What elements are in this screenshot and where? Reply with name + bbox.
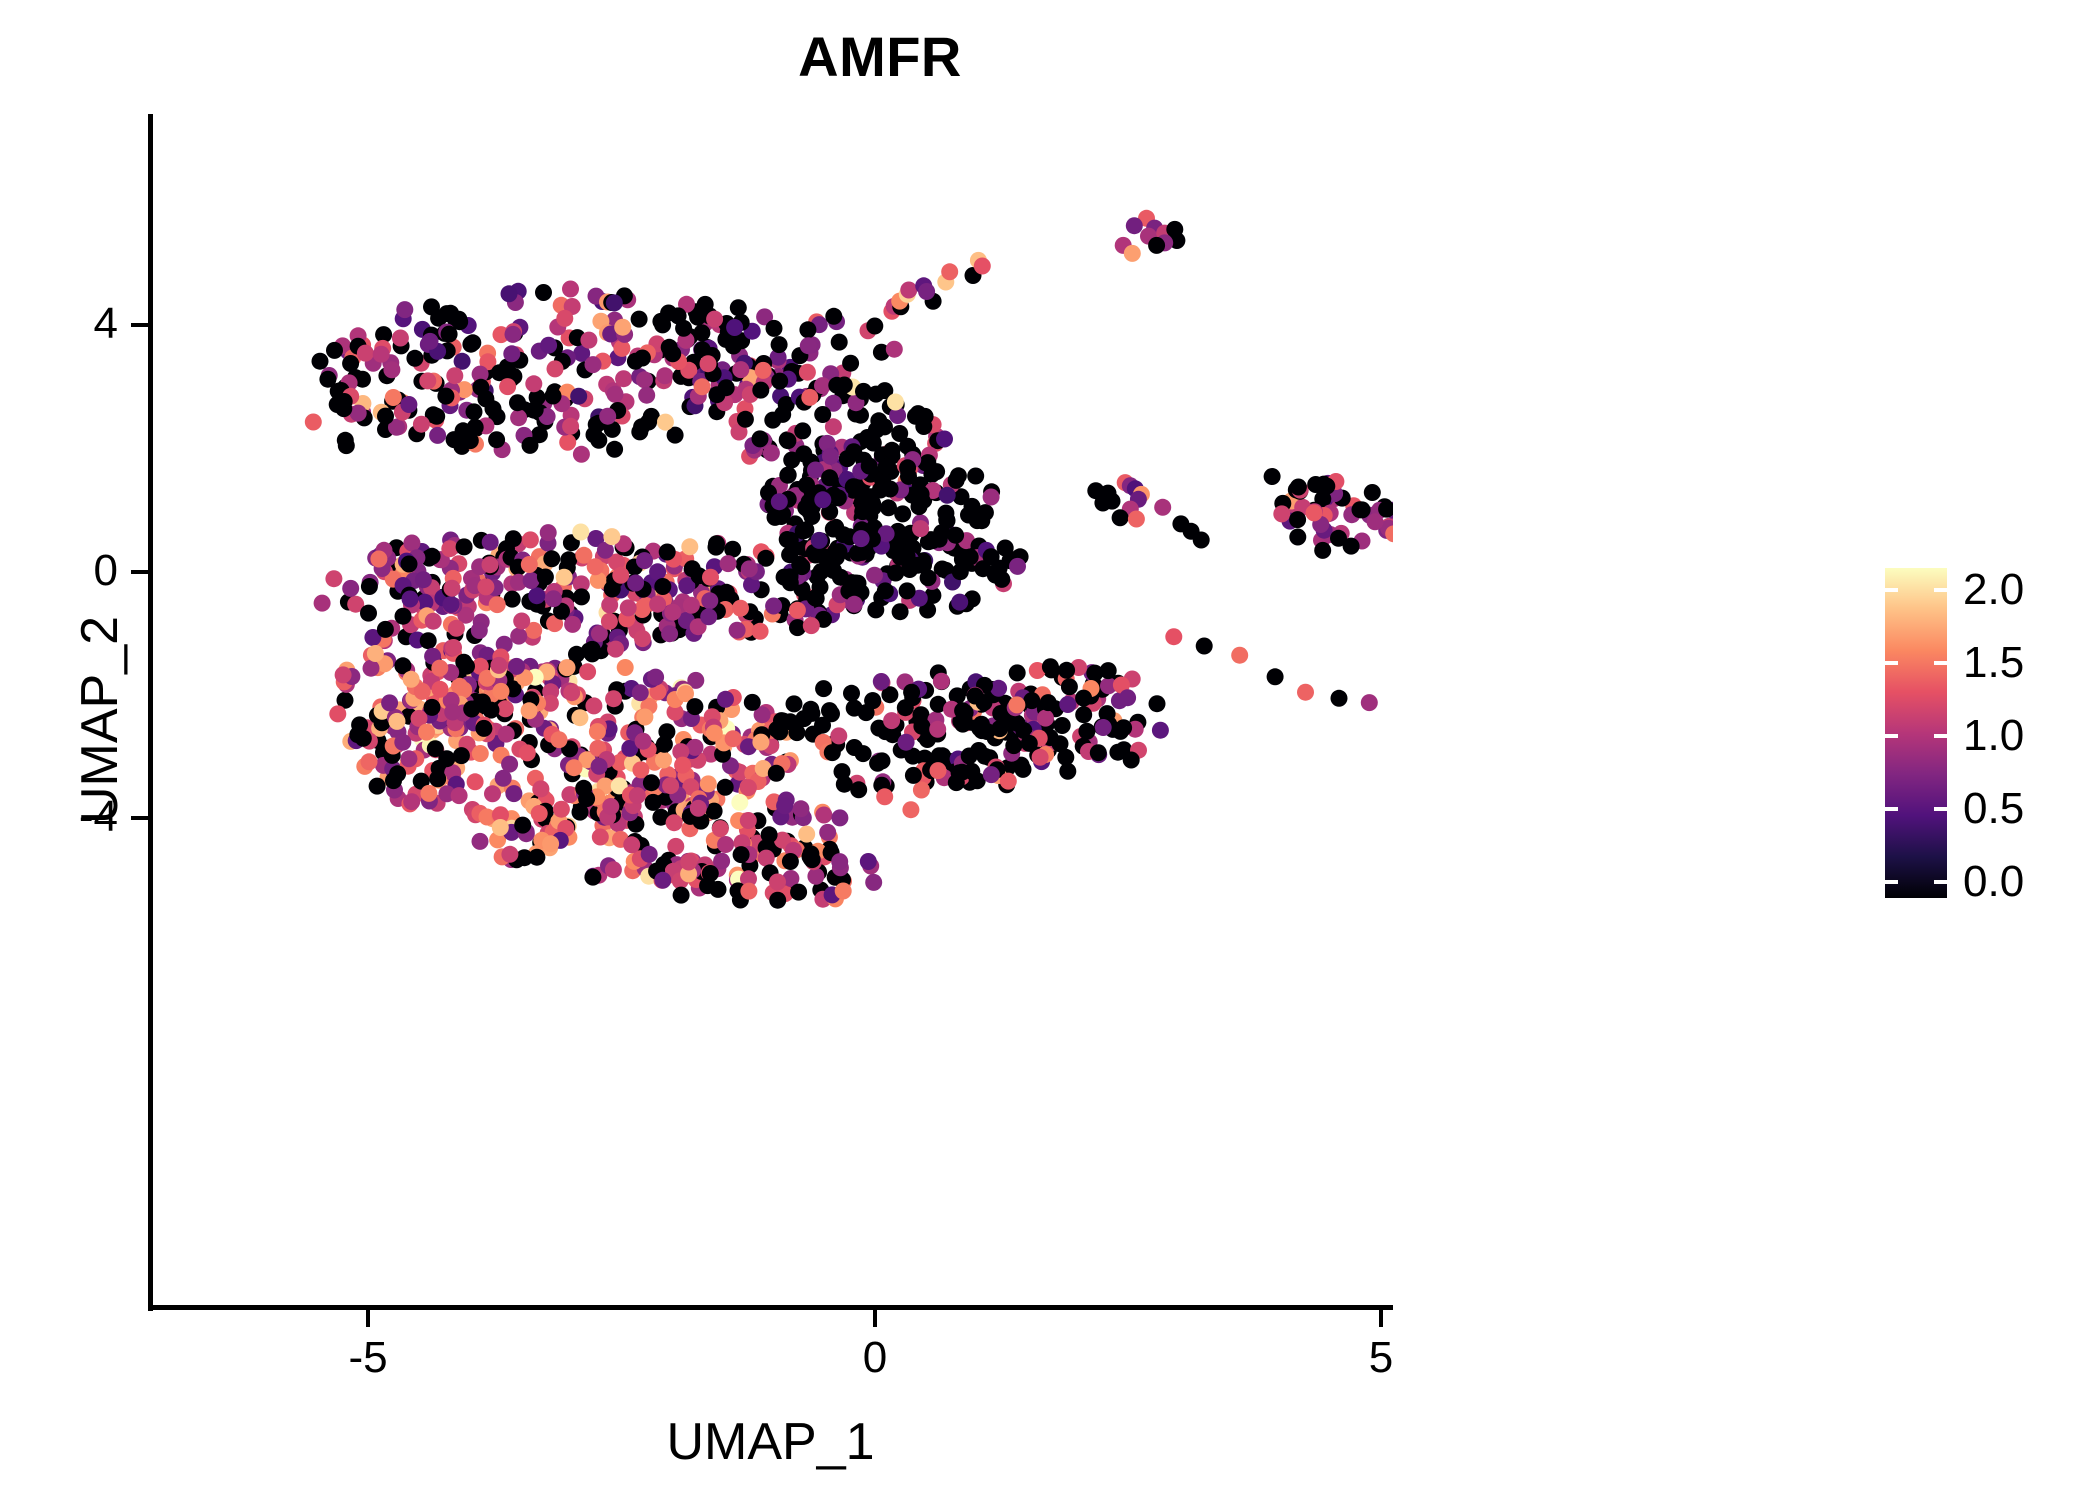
colorbar-tick-0-5 xyxy=(1885,807,1947,811)
x-tick-mark-neg5 xyxy=(366,1310,370,1327)
colorbar-tick-0-0 xyxy=(1885,880,1947,884)
y-axis-title: UMAP_2 xyxy=(70,320,130,1120)
x-tick-mark-5 xyxy=(1379,1310,1383,1327)
x-axis-title: UMAP_1 xyxy=(148,1412,1393,1472)
x-tick-label-neg5: -5 xyxy=(308,1336,428,1380)
y-tick-mark-4 xyxy=(131,323,148,327)
colorbar-label-0-5: 0.5 xyxy=(1963,787,2093,831)
colorbar-gradient xyxy=(1885,568,1947,898)
colorbar-tick-2-0 xyxy=(1885,588,1947,592)
x-tick-label-0: 0 xyxy=(815,1336,935,1380)
colorbar-label-1-0: 1.0 xyxy=(1963,714,2093,758)
x-tick-label-5: 5 xyxy=(1321,1336,1441,1380)
x-tick-mark-0 xyxy=(873,1310,877,1327)
y-tick-mark-neg4 xyxy=(131,816,148,820)
page-title: AMFR xyxy=(0,24,1760,89)
plot-panel xyxy=(148,118,1393,1307)
y-tick-mark-0 xyxy=(131,570,148,574)
colorbar-label-0-0: 0.0 xyxy=(1963,860,2093,904)
scatter-points-layer xyxy=(148,118,1393,1307)
colorbar-tick-1-5 xyxy=(1885,661,1947,665)
feature-plot-figure: AMFR 4 0 -4 -5 0 5 UMAP_1 UMAP_2 xyxy=(0,0,2100,1500)
colorbar-svg xyxy=(1885,568,1947,898)
colorbar-label-1-5: 1.5 xyxy=(1963,641,2093,685)
colorbar-legend: 2.0 1.5 1.0 0.5 0.0 xyxy=(1885,560,2095,910)
colorbar-tick-1-0 xyxy=(1885,734,1947,738)
colorbar-label-2-0: 2.0 xyxy=(1963,568,2093,612)
scatter-svg xyxy=(148,118,1393,1307)
